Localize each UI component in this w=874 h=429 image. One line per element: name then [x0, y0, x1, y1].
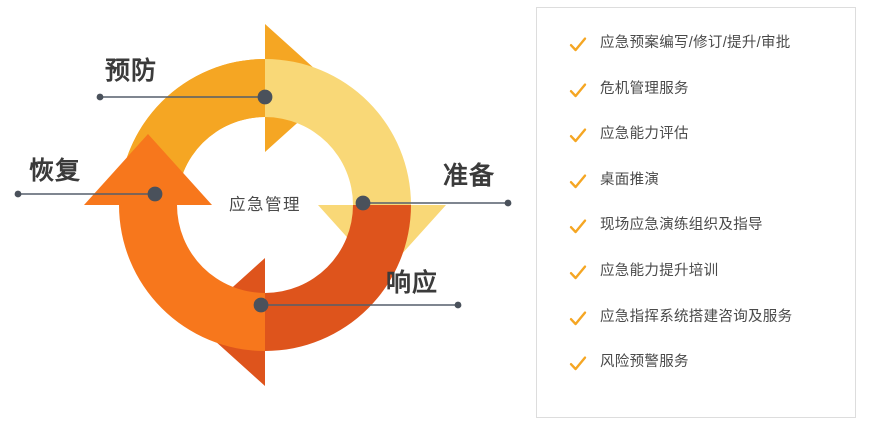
- list-item-label: 应急预案编写/修订/提升/审批: [600, 35, 791, 52]
- list-item[interactable]: 桌面推演: [537, 172, 855, 218]
- list-item[interactable]: 风险预警服务: [537, 354, 855, 400]
- check-icon: [569, 218, 587, 236]
- list-item-label: 桌面推演: [600, 172, 659, 189]
- check-icon: [569, 127, 587, 145]
- emergency-management-cycle-diagram: 应急管理 预防 准备 响应 恢复: [0, 0, 530, 429]
- phase-label-prevention: 预防: [105, 59, 157, 84]
- check-icon: [569, 264, 587, 282]
- list-item[interactable]: 现场应急演练组织及指导: [537, 217, 855, 263]
- list-item-label: 危机管理服务: [600, 81, 689, 98]
- list-item[interactable]: 应急指挥系统搭建咨询及服务: [537, 309, 855, 355]
- list-item-label: 应急指挥系统搭建咨询及服务: [600, 309, 792, 326]
- check-icon: [569, 355, 587, 373]
- check-icon: [569, 173, 587, 191]
- list-item-label: 风险预警服务: [600, 354, 689, 371]
- cycle-arrows-svg: 应急管理: [0, 0, 530, 429]
- list-item[interactable]: 应急预案编写/修订/提升/审批: [537, 35, 855, 81]
- list-item-label: 现场应急演练组织及指导: [600, 217, 763, 234]
- phase-label-preparation: 准备: [443, 164, 495, 189]
- check-icon: [569, 82, 587, 100]
- service-list: 应急预案编写/修订/提升/审批 危机管理服务 应急能力评估 桌面推演: [537, 8, 855, 400]
- list-item[interactable]: 应急能力提升培训: [537, 263, 855, 309]
- check-icon: [569, 36, 587, 54]
- cycle-center-label: 应急管理: [229, 195, 301, 214]
- list-item-label: 应急能力评估: [600, 126, 689, 143]
- list-item[interactable]: 危机管理服务: [537, 81, 855, 127]
- list-item[interactable]: 应急能力评估: [537, 126, 855, 172]
- arrow-segment-recovery: [84, 134, 265, 351]
- infographic-canvas: 应急管理 预防 准备 响应 恢复 应急预案编写/修订/提升/审批 危机管理服务: [0, 0, 874, 429]
- list-item-label: 应急能力提升培训: [600, 263, 718, 280]
- check-icon: [569, 310, 587, 328]
- phase-label-recovery: 恢复: [29, 159, 81, 184]
- phase-label-response: 响应: [386, 271, 438, 296]
- service-list-panel: 应急预案编写/修订/提升/审批 危机管理服务 应急能力评估 桌面推演: [536, 7, 856, 418]
